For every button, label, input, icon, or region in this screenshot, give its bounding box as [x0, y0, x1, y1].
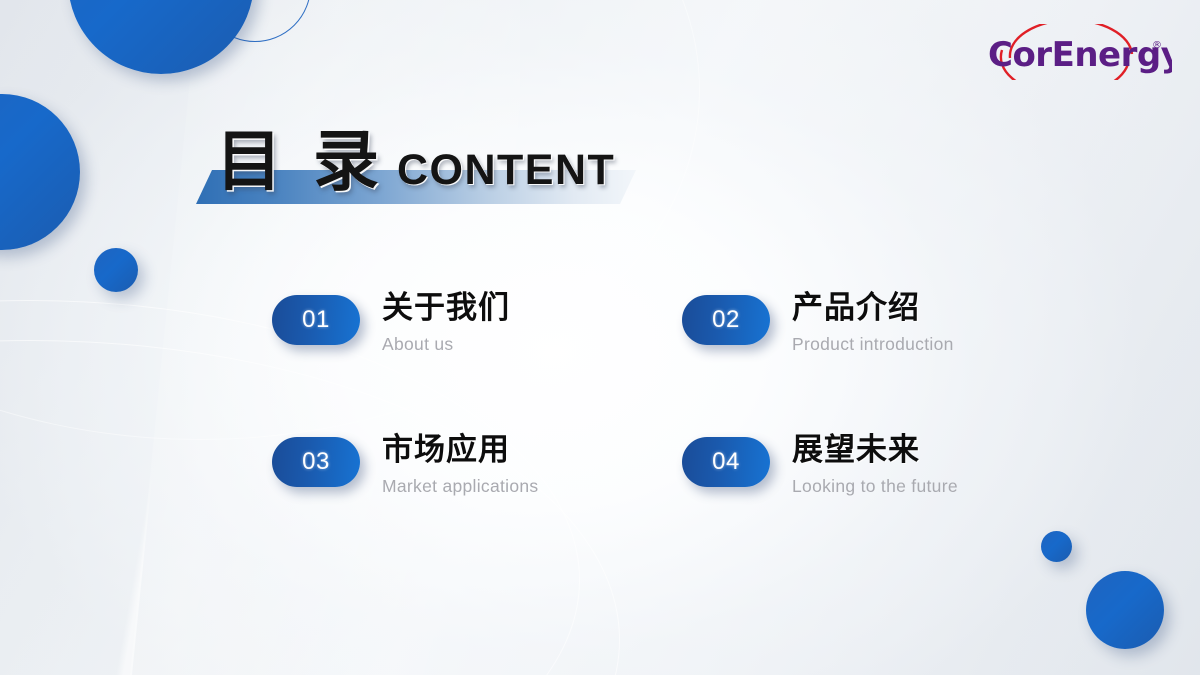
svg-text:CorEnergy: CorEnergy — [988, 35, 1172, 75]
item-number: 01 — [302, 306, 330, 334]
decorative-circle-bottomright-small — [1041, 531, 1072, 562]
page-title: 目 录 CONTENT — [196, 108, 716, 218]
item-title-chinese: 展望未来 — [792, 432, 958, 469]
corenergy-logo: CorEnergy ® — [982, 24, 1172, 80]
presentation-slide: CorEnergy ® 目 录 CONTENT 01 关于我们 About us… — [0, 0, 1200, 675]
item-number-badge: 03 — [272, 437, 360, 487]
item-title-chinese: 产品介绍 — [792, 290, 954, 327]
title-chinese: 目 录 — [216, 108, 383, 204]
item-title-english: Looking to the future — [792, 476, 958, 497]
item-labels: 市场应用 Market applications — [382, 432, 538, 497]
item-labels: 产品介绍 Product introduction — [792, 290, 954, 355]
item-title-english: About us — [382, 334, 510, 355]
item-number-badge: 02 — [682, 295, 770, 345]
item-number: 04 — [712, 448, 740, 476]
content-list: 01 关于我们 About us 02 产品介绍 Product introdu… — [272, 290, 1002, 574]
content-item-02[interactable]: 02 产品介绍 Product introduction — [682, 290, 1002, 432]
item-title-english: Product introduction — [792, 334, 954, 355]
decorative-circle-bottomright-large — [1086, 571, 1164, 649]
item-number: 03 — [302, 448, 330, 476]
svg-text:®: ® — [1152, 40, 1162, 51]
item-title-chinese: 关于我们 — [382, 290, 510, 327]
item-labels: 关于我们 About us — [382, 290, 510, 355]
content-item-03[interactable]: 03 市场应用 Market applications — [272, 432, 682, 574]
item-labels: 展望未来 Looking to the future — [792, 432, 958, 497]
item-number: 02 — [712, 306, 740, 334]
item-title-english: Market applications — [382, 476, 538, 497]
item-number-badge: 01 — [272, 295, 360, 345]
decorative-circle-left-small — [94, 248, 138, 292]
content-item-04[interactable]: 04 展望未来 Looking to the future — [682, 432, 1002, 574]
title-english: CONTENT — [397, 146, 615, 195]
content-item-01[interactable]: 01 关于我们 About us — [272, 290, 682, 432]
item-number-badge: 04 — [682, 437, 770, 487]
item-title-chinese: 市场应用 — [382, 432, 538, 469]
